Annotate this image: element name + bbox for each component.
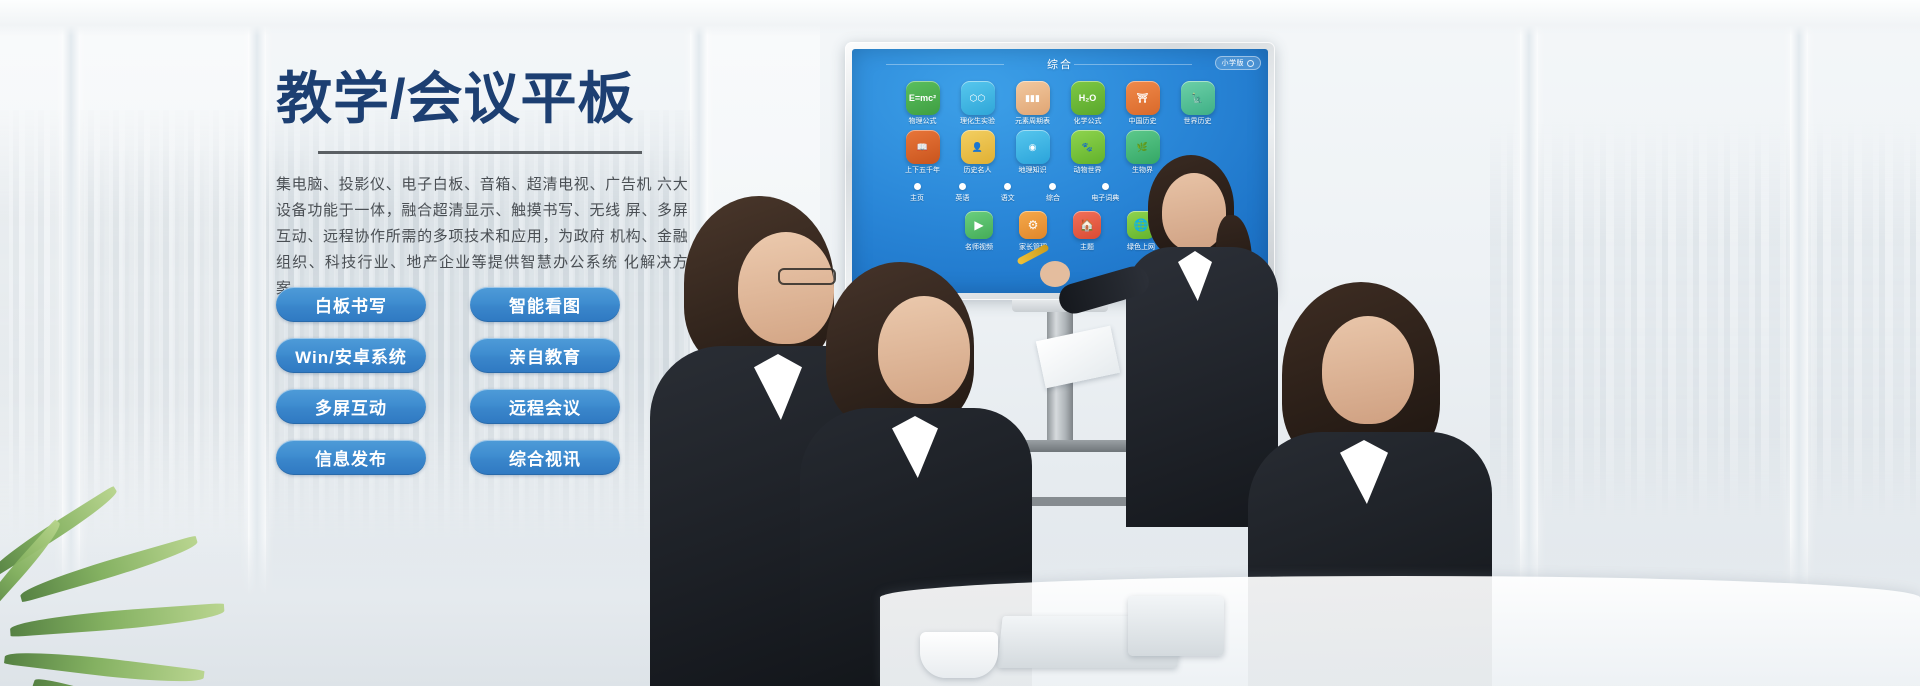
hero-banner: 教学/会议平板 集电脑、投影仪、电子白板、音箱、超清电视、广告机 六大设备功能于… [0, 0, 1920, 686]
app-icon-4: ⛩ [1126, 81, 1160, 115]
app-icon-8: ◉ [1016, 130, 1050, 164]
app-label-1: 理化生实验 [954, 118, 1002, 125]
feature-button-whiteboard-writing[interactable]: 白板书写 [276, 287, 426, 322]
background-city-right [1490, 120, 1920, 520]
bottom-app-icon-1: ⚙ [1019, 211, 1047, 239]
app-tile-9[interactable]: 🐾动物世界 [1064, 130, 1112, 174]
bottom-app-icon-0: ▶ [965, 211, 993, 239]
app-icon-1: ⬡⬡ [961, 81, 995, 115]
app-icon-5: 🗽 [1181, 81, 1215, 115]
app-tile-1[interactable]: ⬡⬡理化生实验 [954, 81, 1002, 125]
hero-copy: 教学/会议平板 集电脑、投影仪、电子白板、音箱、超清电视、广告机 六大设备功能于… [276, 66, 696, 302]
app-tile-0[interactable]: E=mc²物理公式 [899, 81, 947, 125]
seated-middle-head [878, 296, 970, 404]
app-tile-3[interactable]: H₂O化学公式 [1064, 81, 1112, 125]
nav-item-4[interactable]: 电子词典 [1091, 183, 1119, 203]
power-icon [1247, 60, 1254, 67]
app-icon-2: ▮▮▮ [1016, 81, 1050, 115]
nav-dot-icon-2 [1004, 183, 1011, 190]
app-label-5: 世界历史 [1174, 118, 1222, 125]
bottom-app-label-2: 主题 [1073, 242, 1101, 252]
laptop-right [1128, 596, 1224, 656]
bottom-app-0[interactable]: ▶名师视频 [965, 211, 993, 252]
feature-button-parent-child-education[interactable]: 亲自教育 [470, 338, 620, 373]
app-icon-7: 👤 [961, 130, 995, 164]
version-badge[interactable]: 小学版 [1215, 56, 1262, 70]
app-icon-9: 🐾 [1071, 130, 1105, 164]
nav-item-2[interactable]: 语文 [1001, 183, 1015, 203]
nav-dot-icon-4 [1102, 183, 1109, 190]
app-label-3: 化学公式 [1064, 118, 1112, 125]
feature-button-information-publishing[interactable]: 信息发布 [276, 440, 426, 475]
presenter-hand [1040, 261, 1070, 287]
feature-button-multi-screen-interaction[interactable]: 多屏互动 [276, 389, 426, 424]
feature-button-win-android-system[interactable]: Win/安卓系统 [276, 338, 426, 373]
nav-item-0[interactable]: 主页 [910, 183, 924, 203]
nav-dot-icon-3 [1049, 183, 1056, 190]
app-label-7: 历史名人 [954, 167, 1002, 174]
feature-button-grid: 白板书写智能看图Win/安卓系统亲自教育多屏互动远程会议信息发布综合视讯 [276, 287, 620, 475]
feature-button-remote-conference[interactable]: 远程会议 [470, 389, 620, 424]
app-icon-0: E=mc² [906, 81, 940, 115]
nav-dot-icon-1 [959, 183, 966, 190]
app-tile-8[interactable]: ◉地理知识 [1009, 130, 1057, 174]
feature-button-smart-image-view[interactable]: 智能看图 [470, 287, 620, 322]
bottom-app-icon-2: 🏠 [1073, 211, 1101, 239]
app-label-9: 动物世界 [1064, 167, 1112, 174]
nav-label-2: 语文 [1001, 193, 1015, 203]
plant-decoration [0, 446, 280, 686]
app-tile-5[interactable]: 🗽世界历史 [1174, 81, 1222, 125]
app-tile-6[interactable]: 📖上下五千年 [899, 130, 947, 174]
feature-button-integrated-video[interactable]: 综合视讯 [470, 440, 620, 475]
app-label-2: 元素周期表 [1009, 118, 1057, 125]
ceiling [0, 0, 1920, 36]
nav-dot-icon-0 [914, 183, 921, 190]
app-label-0: 物理公式 [899, 118, 947, 125]
coffee-cup [920, 632, 998, 678]
nav-label-4: 电子词典 [1091, 193, 1119, 203]
app-label-6: 上下五千年 [899, 167, 947, 174]
app-tile-4[interactable]: ⛩中国历史 [1119, 81, 1167, 125]
app-label-8: 地理知识 [1009, 167, 1057, 174]
app-icon-3: H₂O [1071, 81, 1105, 115]
app-tile-7[interactable]: 👤历史名人 [954, 130, 1002, 174]
screen-title: 综合 [1047, 56, 1073, 72]
title-divider [318, 151, 642, 154]
version-badge-label: 小学版 [1222, 58, 1245, 68]
nav-item-1[interactable]: 英语 [955, 183, 969, 203]
nav-label-3: 综合 [1046, 193, 1060, 203]
seated-right-head [1322, 316, 1414, 424]
app-tile-2[interactable]: ▮▮▮元素周期表 [1009, 81, 1057, 125]
bottom-app-label-0: 名师视频 [965, 242, 993, 252]
hero-description: 集电脑、投影仪、电子白板、音箱、超清电视、广告机 六大设备功能于一体，融合超清显… [276, 172, 688, 302]
screen-header: 综合 [852, 49, 1268, 79]
nav-item-3[interactable]: 综合 [1046, 183, 1060, 203]
app-label-4: 中国历史 [1119, 118, 1167, 125]
page-title: 教学/会议平板 [276, 66, 696, 132]
bottom-app-2[interactable]: 🏠主题 [1073, 211, 1101, 252]
app-icon-6: 📖 [906, 130, 940, 164]
nav-label-0: 主页 [910, 193, 924, 203]
nav-label-1: 英语 [955, 193, 969, 203]
